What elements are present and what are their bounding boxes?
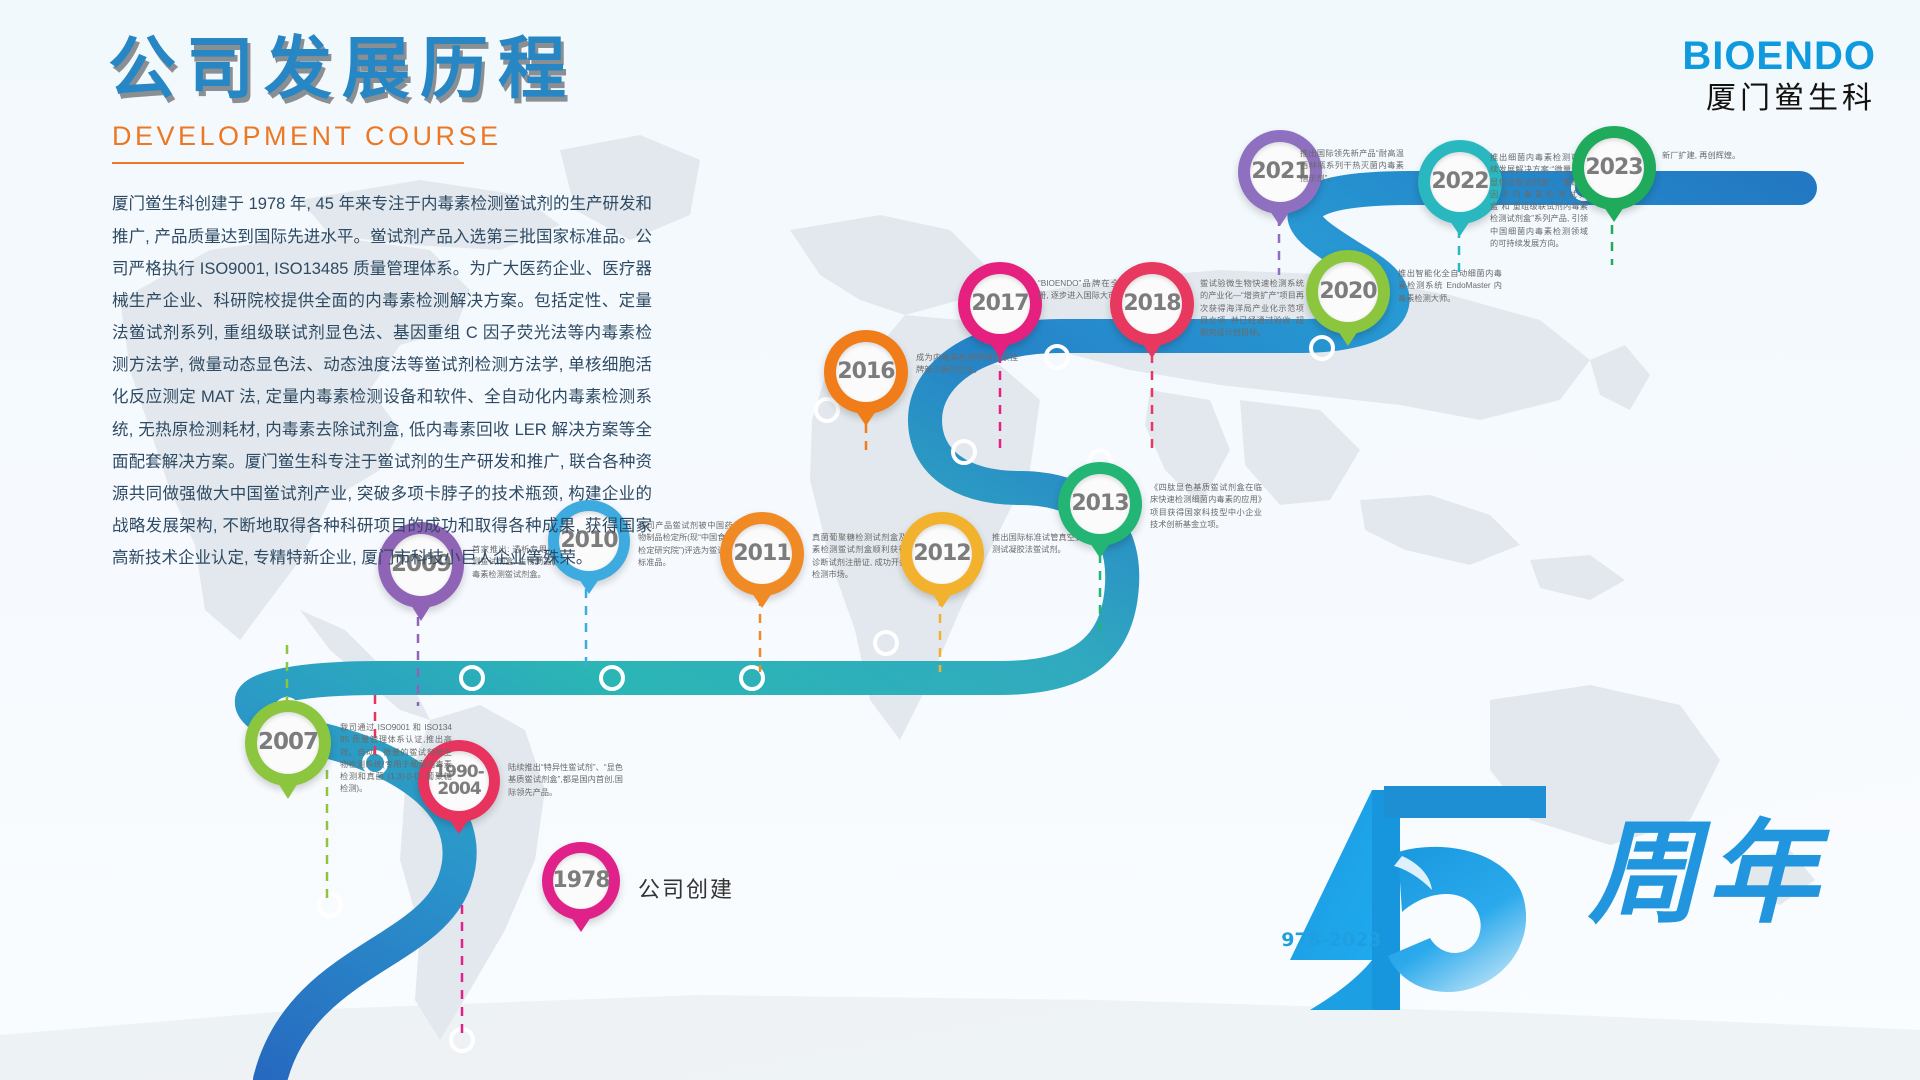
marker-tail	[932, 593, 952, 608]
marker-tail	[990, 343, 1010, 358]
marker-center: 2022	[1430, 152, 1490, 212]
milestone-desc-2021: 推出国际领先新产品“耐高温西林瓶系列干热灭菌内毒素指示剂”。	[1300, 148, 1404, 185]
milestone-marker-2011[interactable]: 2011	[720, 512, 804, 596]
marker-tail	[1142, 343, 1162, 358]
milestone-year: 2018	[1123, 293, 1180, 315]
page-subtitle: DEVELOPMENT COURSE	[112, 121, 728, 152]
header-block: 公司发展历程 DEVELOPMENT COURSE 厦门鲎生科创建于 1978 …	[108, 34, 728, 574]
marker-center: 2020	[1318, 262, 1378, 322]
title-divider	[112, 162, 464, 164]
page-title: 公司发展历程	[108, 34, 728, 105]
marker-center: 2007	[257, 712, 319, 774]
marker-center: 2012	[912, 524, 972, 584]
marker-center: 1978	[553, 853, 609, 909]
milestone-marker-2023[interactable]: 2023	[1572, 126, 1656, 210]
logo-brand-cn: 厦门鲎生科	[1682, 84, 1876, 114]
marker-tail	[1450, 221, 1470, 236]
marker-center: 2011	[732, 524, 792, 584]
milestone-desc-2020: 推出智能化全自动细菌内毒素检测系统 EndoMaster 内毒素检测大师。	[1398, 268, 1502, 305]
milestone-label-1978: 公司创建	[638, 872, 734, 904]
milestone-marker-2012[interactable]: 2012	[900, 512, 984, 596]
milestone-year: 2020	[1319, 281, 1376, 303]
company-logo[interactable]: BIOENDO 厦门鲎生科	[1682, 36, 1876, 114]
logo-brand-en: BIOENDO	[1682, 36, 1876, 76]
milestone-year: 2013	[1071, 493, 1128, 515]
milestone-year: 2016	[837, 361, 894, 383]
anniversary-badge: 1978-2023 周年	[1280, 760, 1900, 1020]
milestone-marker-2020[interactable]: 2020	[1306, 250, 1390, 334]
marker-center: 2018	[1122, 274, 1182, 334]
company-intro-text: 厦门鲎生科创建于 1978 年, 45 年来专注于内毒素检测鲎试剂的生产研发和推…	[112, 188, 652, 574]
milestone-year: 1978	[552, 870, 609, 892]
milestone-desc-2023: 新厂扩建, 再创辉煌。	[1662, 150, 1752, 162]
milestone-marker-1978[interactable]: 1978	[542, 842, 620, 920]
milestone-marker-2007[interactable]: 2007	[245, 700, 331, 786]
marker-tail	[1090, 543, 1110, 558]
marker-tail	[571, 917, 591, 932]
marker-tail	[411, 605, 431, 621]
milestone-year: 2011	[733, 543, 790, 565]
marker-center: 2016	[836, 342, 896, 402]
milestone-desc-2007: 我司通过 ISO9001 和 ISO13485 质量管理体系认证,推出高效、自动…	[340, 722, 452, 796]
anniversary-suffix: 周年	[1588, 818, 1824, 930]
marker-tail	[579, 579, 599, 594]
infographic-canvas: 1978 公司创建 1990- 2004 陆续推出“特异性鲎试剂”、“显色基质鲎…	[0, 0, 1920, 1080]
marker-center: 2023	[1584, 138, 1644, 198]
milestone-desc-2018: 鲎试验微生物快速检测系统的产业化—“增资扩产”项目再次获得海洋局产业化示范项目立…	[1200, 278, 1304, 339]
marker-tail	[1604, 207, 1624, 222]
marker-tail	[1270, 211, 1290, 226]
milestone-marker-2016[interactable]: 2016	[824, 330, 908, 414]
milestone-year: 2012	[913, 543, 970, 565]
marker-center: 2017	[970, 274, 1030, 334]
milestone-desc-1990-2004: 陆续推出“特异性鲎试剂”、“显色基质鲎试剂盒”,都是国内首创,国际领先产品。	[508, 762, 623, 799]
milestone-year: 2007	[258, 731, 318, 754]
milestone-marker-2018[interactable]: 2018	[1110, 262, 1194, 346]
marker-tail	[278, 783, 298, 799]
milestone-marker-2013[interactable]: 2013	[1058, 462, 1142, 546]
milestone-year: 2022	[1431, 171, 1488, 193]
milestone-year: 2023	[1585, 157, 1642, 179]
milestone-marker-2017[interactable]: 2017	[958, 262, 1042, 346]
marker-tail	[449, 819, 469, 834]
svg-text:1978-2023: 1978-2023	[1280, 929, 1382, 951]
milestone-desc-2013: 《四肽显色基质鲎试剂盒在临床快速检测细菌内毒素的应用》项目获得国家科技型中小企业…	[1150, 482, 1262, 531]
marker-tail	[1338, 331, 1358, 346]
milestone-year: 2017	[971, 293, 1028, 315]
marker-tail	[752, 593, 772, 608]
marker-tail	[856, 411, 876, 426]
marker-center: 2013	[1070, 474, 1130, 534]
